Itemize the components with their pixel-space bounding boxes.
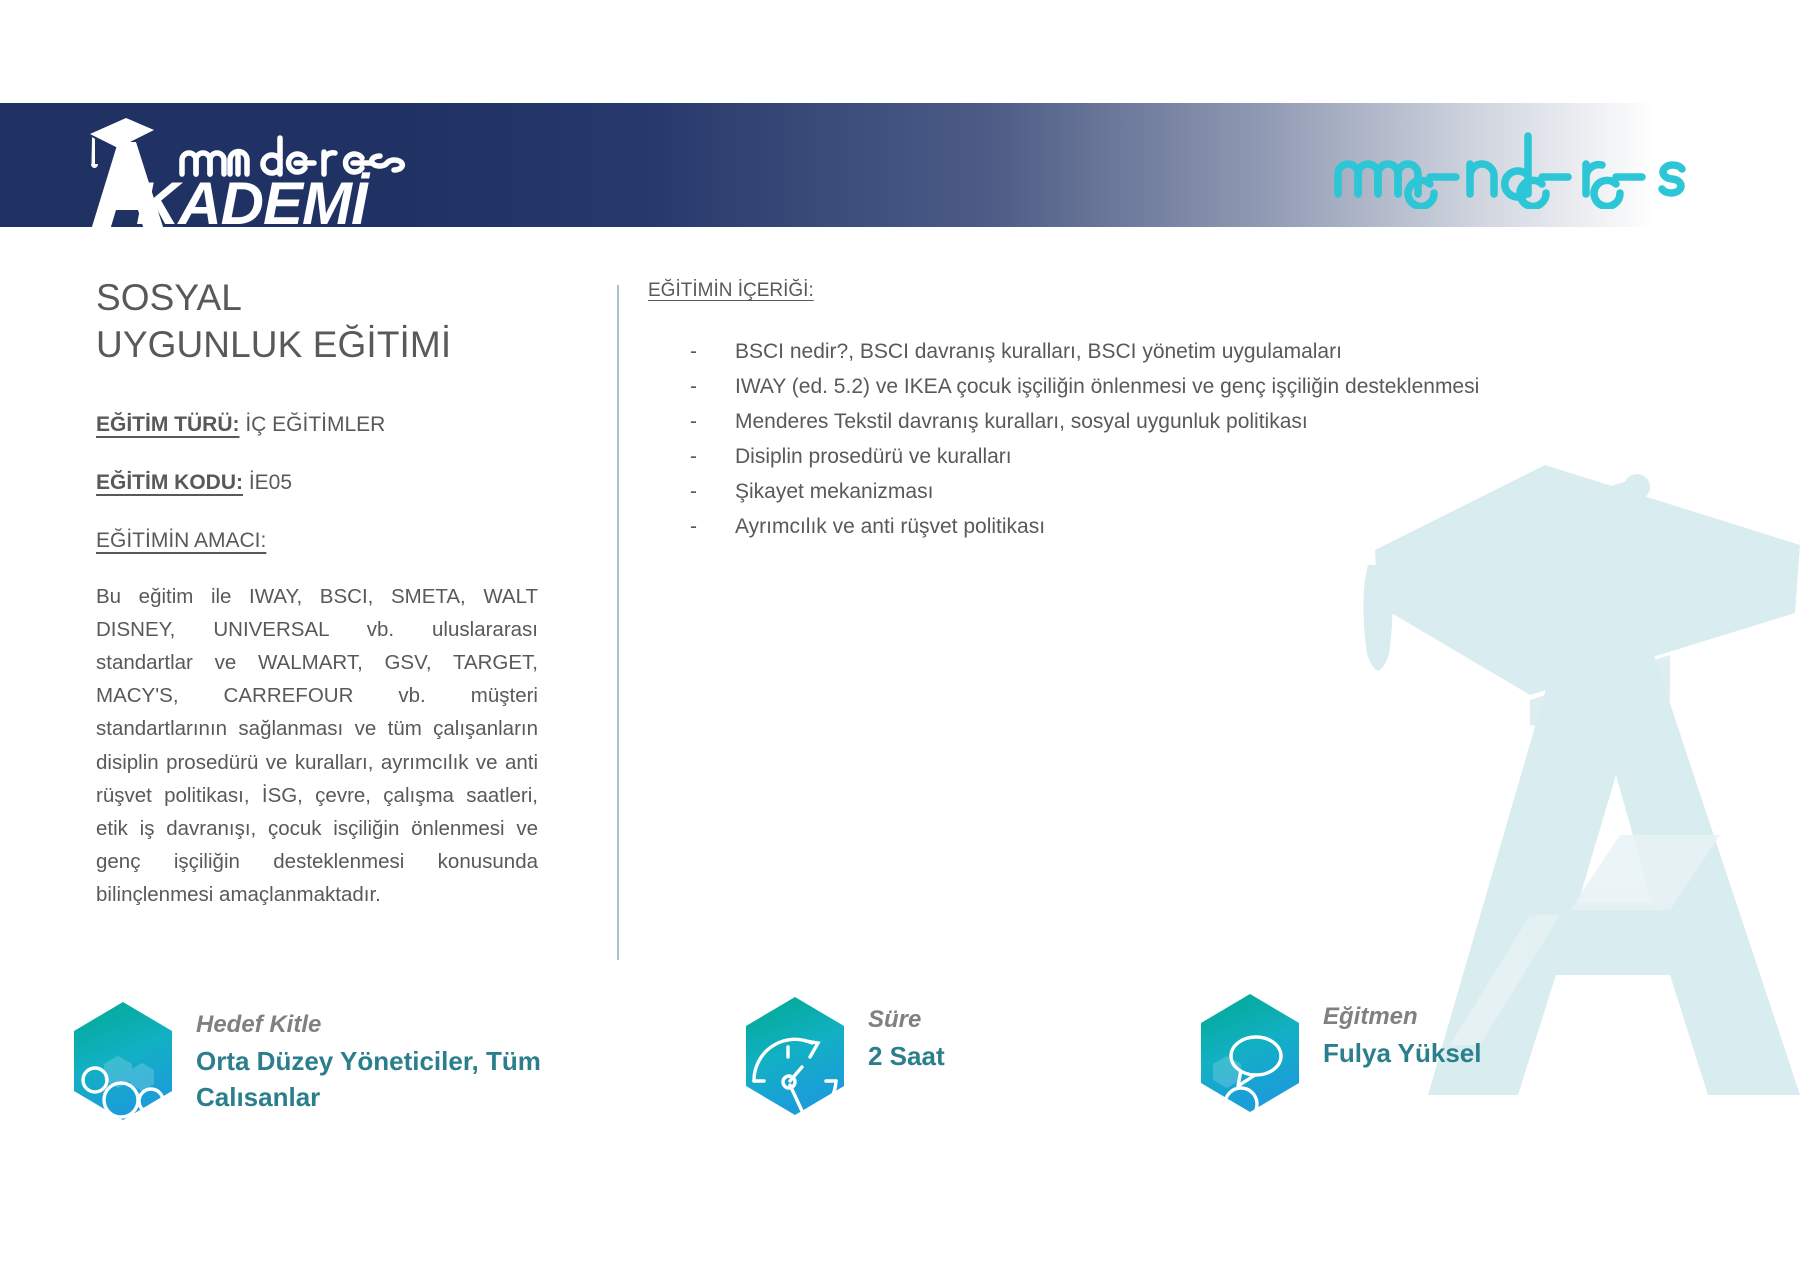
- badge-audience-value: Orta Düzey Yöneticiler, Tüm Calısanlar: [196, 1044, 616, 1116]
- clock-icon: [740, 995, 850, 1117]
- purpose-text: Bu eğitim ile IWAY, BSCI, SMETA, WALT DI…: [96, 580, 538, 912]
- bullet-dash: -: [690, 336, 697, 368]
- list-item: -Menderes Tekstil davranış kuralları, so…: [690, 406, 1738, 438]
- badge-duration: Süre 2 Saat: [740, 995, 1070, 1117]
- list-item-label: IWAY (ed. 5.2) ve IKEA çocuk işçiliğin ö…: [735, 375, 1479, 398]
- content-list: -BSCI nedir?, BSCI davranış kuralları, B…: [648, 336, 1738, 542]
- training-type-label: EĞİTİM TÜRÜ:: [96, 413, 239, 436]
- list-item-label: Disiplin prosedürü ve kuralları: [735, 445, 1012, 468]
- purpose-label: EĞİTİMİN AMACI:: [96, 529, 266, 553]
- speech-bubble-icon: [1195, 992, 1305, 1114]
- list-item: -Ayrımcılık ve anti rüşvet politikası: [690, 511, 1738, 543]
- badge-audience-caption: Hedef Kitle: [196, 1010, 616, 1040]
- badge-trainer-caption: Eğitmen: [1323, 1002, 1482, 1032]
- bullet-dash: -: [690, 406, 697, 438]
- list-item-label: Şikayet mekanizması: [735, 480, 933, 503]
- badge-duration-value: 2 Saat: [868, 1039, 945, 1075]
- badge-trainer-text: Eğitmen Fulya Yüksel: [1323, 992, 1482, 1072]
- badge-audience-text: Hedef Kitle Orta Düzey Yöneticiler, Tüm …: [196, 1000, 616, 1116]
- akademi-logo: menderes KADEMİ: [62, 106, 492, 230]
- list-item: -Şikayet mekanizması: [690, 476, 1738, 508]
- badge-trainer: Eğitmen Fulya Yüksel: [1195, 992, 1615, 1114]
- list-item: -IWAY (ed. 5.2) ve IKEA çocuk işçiliğin …: [690, 371, 1738, 403]
- bullet-dash: -: [690, 441, 697, 473]
- bullet-dash: -: [690, 476, 697, 508]
- column-divider: [617, 285, 619, 960]
- bullet-dash: -: [690, 511, 697, 543]
- list-item: -Disiplin prosedürü ve kuralları: [690, 441, 1738, 473]
- training-type-line: EĞİTİM TÜRÜ: İÇ EĞİTİMLER: [96, 412, 538, 437]
- left-column: SOSYAL UYGUNLUK EĞİTİMİ EĞİTİM TÜRÜ: İÇ …: [96, 275, 538, 912]
- menderes-wordmark: [1330, 124, 1730, 209]
- training-code-line: EĞİTİM KODU: İE05: [96, 470, 538, 495]
- right-column: EĞİTİMİN İÇERİĞİ: -BSCI nedir?, BSCI dav…: [648, 280, 1738, 545]
- content-label: EĞİTİMİN İÇERİĞİ:: [648, 280, 814, 302]
- people-icon: [68, 1000, 178, 1122]
- list-item-label: Menderes Tekstil davranış kuralları, sos…: [735, 410, 1308, 433]
- training-code-value: İE05: [243, 471, 292, 494]
- badge-trainer-value: Fulya Yüksel: [1323, 1036, 1482, 1072]
- badge-duration-caption: Süre: [868, 1005, 945, 1035]
- list-item: -BSCI nedir?, BSCI davranış kuralları, B…: [690, 336, 1738, 368]
- badge-audience: Hedef Kitle Orta Düzey Yöneticiler, Tüm …: [68, 1000, 628, 1122]
- list-item-label: BSCI nedir?, BSCI davranış kuralları, BS…: [735, 340, 1342, 363]
- training-type-value: İÇ EĞİTİMLER: [239, 413, 385, 436]
- training-code-label: EĞİTİM KODU:: [96, 471, 243, 494]
- badge-duration-text: Süre 2 Saat: [868, 995, 945, 1075]
- page-title: SOSYAL UYGUNLUK EĞİTİMİ: [96, 275, 456, 368]
- list-item-label: Ayrımcılık ve anti rüşvet politikası: [735, 515, 1045, 538]
- bullet-dash: -: [690, 371, 697, 403]
- svg-text:KADEMİ: KADEMİ: [136, 170, 371, 230]
